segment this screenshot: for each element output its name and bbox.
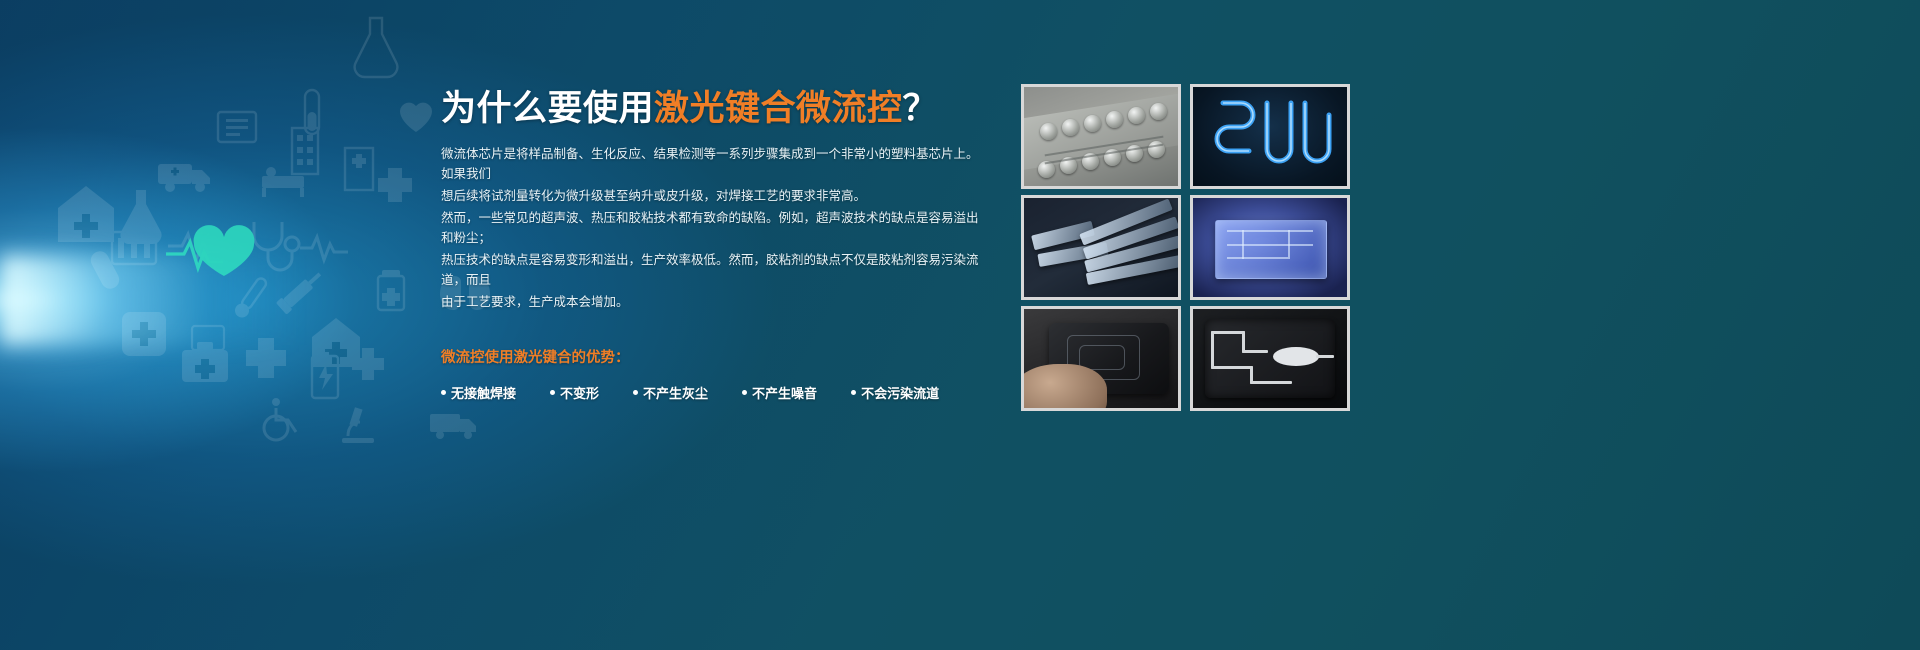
paragraph-line-2: 想后续将试剂量转化为微升级甚至纳升或皮升级，对焊接工艺的要求非常高。 xyxy=(441,186,986,206)
well xyxy=(1062,119,1079,136)
heart-pulse-icon xyxy=(166,225,254,276)
plus-cross-icon-2 xyxy=(246,338,286,378)
photo-content xyxy=(1193,87,1347,186)
clinic-house-icon-2 xyxy=(312,318,360,367)
page-title: 为什么要使用激光键合微流控？ xyxy=(441,88,986,130)
well xyxy=(1106,111,1123,128)
light-beam-core xyxy=(0,255,300,345)
bullet-dot-icon xyxy=(633,390,638,395)
microscope-icon xyxy=(342,407,374,443)
advantages-list: 无接触焊接 不变形 不产生灰尘 不产生噪音 不会污染流道 xyxy=(441,383,986,402)
flask-filled-icon xyxy=(120,190,161,244)
capsule-pill-icon xyxy=(88,248,123,292)
bullet-dot-icon xyxy=(742,390,747,395)
plus-cross-icon-3 xyxy=(352,348,384,380)
gallery-photo-dark-chip-in-hand[interactable] xyxy=(1021,306,1181,411)
well xyxy=(1040,123,1057,140)
thermometer-icon xyxy=(232,275,269,320)
well xyxy=(1128,107,1145,124)
title-highlight: 激光键合微流控 xyxy=(654,89,903,128)
channel-line xyxy=(1288,230,1290,260)
clinic-house-icon xyxy=(58,186,114,242)
flask-icon xyxy=(355,18,398,77)
list-item: 不产生灰尘 xyxy=(633,383,708,402)
body-copy: 微流体芯片是将样品制备、生化反应、结果检测等一系列步骤集成到一个非常小的塑料基芯… xyxy=(441,144,986,312)
reaction-chamber xyxy=(1273,347,1319,366)
paragraph-line-4: 热压技术的缺点是容易变形和溢出，生产效率极低。然而，胶粘剂的缺点不仅是胶粘剂容易… xyxy=(441,250,986,290)
list-item: 不变形 xyxy=(550,383,599,402)
list-item-label: 不产生灰尘 xyxy=(643,383,708,402)
hand xyxy=(1021,364,1107,411)
stethoscope-icon xyxy=(254,222,299,270)
gallery-photo-blue-manifold-block[interactable] xyxy=(1190,195,1350,300)
channel-line xyxy=(1211,331,1245,334)
list-item: 无接触焊接 xyxy=(441,383,516,402)
list-item: 不会污染流道 xyxy=(851,383,939,402)
list-item-label: 不产生噪音 xyxy=(752,383,817,402)
light-beam-glow xyxy=(0,150,380,450)
clipboard-icon xyxy=(218,112,256,142)
bullet-dot-icon xyxy=(851,390,856,395)
channel-line xyxy=(1227,257,1289,259)
heartbeat-line-icon-2 xyxy=(300,237,348,260)
list-item-label: 不变形 xyxy=(560,383,599,402)
channel-line xyxy=(1250,381,1292,384)
channel-line xyxy=(1211,331,1214,369)
photo-content xyxy=(1024,198,1178,297)
well xyxy=(1150,103,1167,120)
battery-icon xyxy=(312,352,338,398)
paragraph-line-1: 微流体芯片是将样品制备、生化反应、结果检测等一系列步骤集成到一个非常小的塑料基芯… xyxy=(441,144,986,184)
channel-line xyxy=(1227,230,1313,232)
manifold-body xyxy=(1215,220,1328,279)
list-item-label: 无接触焊接 xyxy=(451,383,516,402)
gallery-photo-blue-serpentine-channel[interactable] xyxy=(1190,84,1350,189)
syringe-icon xyxy=(276,268,325,315)
gallery-photo-microfluidic-chip-wells[interactable] xyxy=(1021,84,1181,189)
text-column: 为什么要使用激光键合微流控？ 微流体芯片是将样品制备、生化反应、结果检测等一系列… xyxy=(441,88,986,402)
promotional-banner: 为什么要使用激光键合微流控？ 微流体芯片是将样品制备、生化反应、结果检测等一系列… xyxy=(0,0,1920,650)
photo-content xyxy=(1024,87,1178,186)
heartbeat-line-icon xyxy=(168,234,220,260)
plus-cross-icon xyxy=(378,168,412,202)
paragraph-line-5: 由于工艺要求，生产成本会增加。 xyxy=(441,292,986,312)
bullet-dot-icon xyxy=(550,390,555,395)
advantages-subheading: 微流控使用激光键合的优势： xyxy=(441,346,986,367)
photo-content xyxy=(1024,309,1178,408)
test-tube-icon xyxy=(305,90,319,134)
list-item: 不产生噪音 xyxy=(742,383,817,402)
channel-line xyxy=(1316,355,1334,358)
photo-content xyxy=(1193,198,1347,297)
channel-line xyxy=(1227,244,1313,246)
delivery-truck-icon xyxy=(430,414,476,439)
paragraph-line-3: 然而，一些常见的超声波、热压和胶粘技术都有致命的缺陷。例如，超声波技术的缺点是容… xyxy=(441,208,986,248)
wheelchair-icon xyxy=(264,398,296,440)
ambulance-icon xyxy=(158,164,210,192)
heart-icon xyxy=(400,103,432,132)
medkit-small-icon xyxy=(192,326,224,350)
gallery-photo-clear-plastic-chips-fan[interactable] xyxy=(1021,195,1181,300)
channel-line xyxy=(1242,230,1244,260)
product-gallery xyxy=(1021,84,1350,411)
hospital-building-icon xyxy=(292,128,318,174)
gallery-photo-black-cassette-channels[interactable] xyxy=(1190,306,1350,411)
bullet-dot-icon xyxy=(441,390,446,395)
first-aid-kit-icon xyxy=(182,342,228,382)
channel-line xyxy=(1211,366,1253,369)
title-lead: 为什么要使用 xyxy=(441,89,654,128)
cross-badge-icon xyxy=(122,312,166,356)
hospital-building-icon-2 xyxy=(345,148,373,190)
channel-line xyxy=(1242,350,1268,353)
hospital-bed-icon xyxy=(262,167,304,197)
pill-bottle-icon xyxy=(378,270,404,310)
lab-rack-icon xyxy=(112,232,156,264)
title-question-mark: ？ xyxy=(903,89,939,128)
list-item-label: 不会污染流道 xyxy=(861,383,939,402)
well xyxy=(1084,115,1101,132)
photo-content xyxy=(1193,309,1347,408)
